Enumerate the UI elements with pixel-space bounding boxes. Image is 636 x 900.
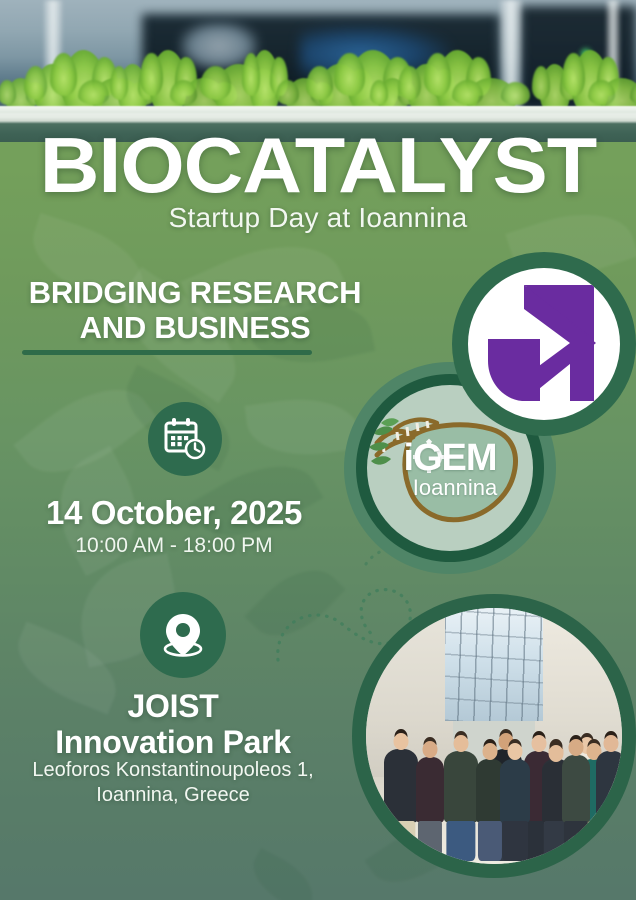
venue-address: Leoforos Konstantinoupoleos 1, Ioannina,… xyxy=(0,758,346,808)
team-member-head xyxy=(394,733,409,750)
venue-address-line-2: Ioannina, Greece xyxy=(0,783,346,808)
tagline-line-1: BRIDGING RESEARCH xyxy=(10,276,380,311)
page-title: BIOCATALYST xyxy=(0,130,636,202)
calendar-clock-glyph xyxy=(162,416,208,462)
team-member-legs xyxy=(418,821,442,861)
event-time: 10:00 AM - 18:00 PM xyxy=(0,534,348,558)
team-member-head xyxy=(549,745,564,762)
team-member-head xyxy=(508,743,523,760)
bg-leaf xyxy=(243,848,323,900)
team-member-legs xyxy=(386,821,415,861)
team-member-legs xyxy=(598,821,622,861)
tagline-underline-rule xyxy=(22,350,312,355)
team-photo-inner-disc xyxy=(366,608,622,864)
bg-leaf xyxy=(244,391,361,464)
team-member xyxy=(562,755,590,823)
map-pin-icon xyxy=(140,592,226,678)
team-member xyxy=(500,759,530,823)
tagline-line-2: AND BUSINESS xyxy=(10,311,380,346)
team-group-photo xyxy=(352,594,636,878)
event-date: 14 October, 2025 xyxy=(0,494,348,532)
team-member xyxy=(384,749,418,823)
venue-name-line-1: JOIST xyxy=(0,688,346,724)
event-poster: BIOCATALYST Startup Day at Ioannina BRID… xyxy=(0,0,636,900)
team-member-legs xyxy=(478,821,502,861)
team-member xyxy=(416,757,444,823)
photo-lettuce-row xyxy=(0,40,636,116)
team-member-head xyxy=(423,741,438,758)
team-member-legs xyxy=(502,821,528,861)
atrium-roof-truss xyxy=(445,608,542,721)
joist-logo xyxy=(452,252,636,436)
calendar-clock-icon xyxy=(148,402,222,476)
photo-trough-lip xyxy=(0,106,636,113)
team-member-head xyxy=(569,739,584,756)
team-member-head xyxy=(483,743,498,760)
venue-name: JOIST Innovation Park xyxy=(0,688,346,761)
map-pin-glyph xyxy=(156,608,210,662)
team-member-head xyxy=(454,735,469,752)
team-member xyxy=(596,751,622,823)
team-member-head xyxy=(604,735,619,752)
team-member-legs xyxy=(564,821,588,861)
team-member-head xyxy=(532,735,547,752)
venue-name-line-2: Innovation Park xyxy=(0,724,346,760)
team-member xyxy=(444,751,478,823)
venue-address-line-1: Leoforos Konstantinoupoleos 1, xyxy=(0,758,346,783)
joist-logo-inner-disc xyxy=(468,268,620,420)
poster-subtitle: Startup Day at Ioannina xyxy=(0,202,636,234)
poster-tagline: BRIDGING RESEARCH AND BUSINESS xyxy=(10,276,380,345)
purple-arrow-icon xyxy=(478,281,610,407)
team-member-legs xyxy=(446,821,475,861)
